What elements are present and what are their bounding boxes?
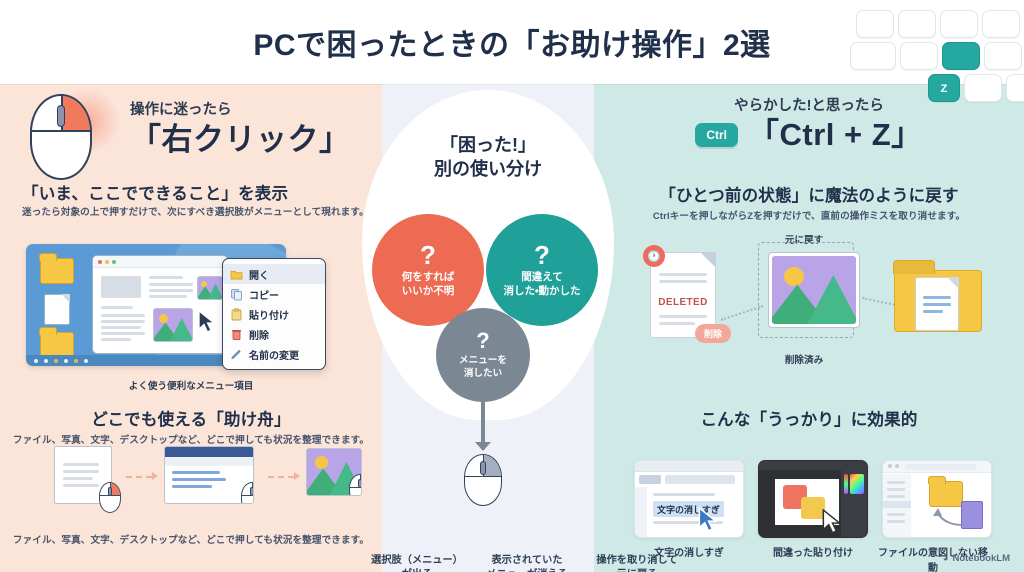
example-document	[54, 446, 112, 504]
right-bigword: 「Ctrl + Z」	[748, 118, 923, 151]
content-line	[101, 306, 133, 309]
content-line	[101, 314, 145, 317]
content-line	[101, 320, 145, 323]
destination-folder-icon	[894, 270, 982, 332]
paste-icon	[230, 308, 243, 321]
left-panel-right-click: 操作に迷ったら 「右クリック」 「いま、ここでできること」を表示 迷ったら対象の…	[0, 84, 382, 572]
context-menu-item-paste[interactable]: 貼り付け	[223, 304, 325, 324]
infographic-page: Z PCで困ったときの「お助け操作」2選 操作に迷ったら 「右クリック」 「いま…	[0, 0, 1024, 572]
usecase-cards: 文字の消しすぎ 文字の消しすぎ	[634, 460, 992, 564]
center-title: 「困った!」 別の使い分け	[382, 134, 594, 182]
thumbnail-image	[153, 308, 193, 342]
bubble-close-menu-line2: 消したい	[464, 368, 502, 381]
mouse-right-click-icon	[349, 474, 362, 496]
footer-caption-line2: 元に戻る	[572, 568, 702, 572]
restored-document	[915, 277, 959, 331]
mouse-left-click-icon	[464, 454, 502, 506]
deleted-caption: 削除済み	[734, 352, 874, 366]
mouse-wheel	[480, 461, 486, 475]
left-section2-head: どこでも使える「助け舟」	[0, 406, 382, 430]
key-blank	[964, 74, 1002, 102]
content-line	[101, 326, 141, 329]
context-menu-item-open[interactable]: 開く	[223, 264, 325, 284]
bubble-close-menu: ? メニューを 消したい	[436, 308, 530, 402]
card-file-move	[882, 460, 992, 538]
context-menu-item-label: 名前の変更	[249, 347, 299, 362]
bubble-mistake-line1: 間違えて	[521, 271, 562, 285]
content-line	[149, 295, 187, 298]
deleted-word: DELETED	[657, 297, 709, 308]
question-mark-icon: ?	[534, 242, 550, 268]
card-wrong-paste	[758, 460, 868, 538]
content-block	[101, 276, 141, 298]
card-caption: 間違った貼り付け	[754, 544, 872, 559]
center-title-line1: 「困った!」	[382, 134, 594, 158]
key-blank	[1006, 74, 1024, 102]
key-z-label: Z	[929, 75, 959, 103]
content-line	[149, 289, 193, 292]
clock-icon: 🕐	[643, 245, 665, 267]
context-menu-item-label: 貼り付け	[249, 307, 289, 322]
flow-dotline	[721, 305, 763, 320]
example-photo	[306, 448, 362, 496]
context-menu-item-label: 開く	[249, 267, 269, 282]
context-menu-item-label: コピー	[249, 287, 279, 302]
content-line	[149, 276, 183, 279]
watermark: ◕ NotebookLM	[943, 553, 1010, 564]
center-panel: 「困った!」 別の使い分け ? 何をすれば いいか不明 ? 間違えて 消した・動…	[382, 84, 594, 572]
window-close-dot	[98, 260, 102, 264]
watermark-label: NotebookLM	[952, 553, 1010, 564]
restored-image	[768, 252, 860, 328]
flow-connector	[481, 398, 485, 448]
left-kicker-wrap: 操作に迷ったら 「右クリック」	[130, 98, 351, 156]
mouse-right-click-icon	[99, 482, 121, 513]
bubble-mistake-line2: 消した・動かした	[503, 285, 580, 299]
pencil-icon	[230, 348, 243, 361]
mouse-right-click-icon	[30, 94, 92, 180]
desktop-doc-icon	[44, 294, 70, 325]
desktop-folder-icon	[40, 258, 74, 284]
ctrl-key-chip: Ctrl	[695, 123, 738, 147]
page-title: PCで困ったときの「お助け操作」2選	[0, 20, 1024, 64]
context-menu-item-copy[interactable]: コピー	[223, 284, 325, 304]
flow-arrow-icon	[475, 442, 491, 451]
folder-icon	[929, 481, 963, 507]
question-mark-icon: ?	[420, 242, 436, 268]
desktop-window	[92, 255, 228, 354]
context-menu-item-delete[interactable]: 削除	[223, 324, 325, 344]
bubble-unsure: ? 何をすれば いいか不明	[372, 214, 484, 326]
footer-caption-undo: 操作を取り消して 元に戻る	[572, 554, 702, 572]
undo-illustration: 🕐 DELETED 削除	[640, 234, 988, 352]
right-panel-ctrl-z: やらかした!と思ったら Ctrl 「Ctrl + Z」 「ひとつ前の状態」に魔法…	[594, 84, 1024, 572]
bubble-unsure-line1: 何をすれば	[402, 271, 455, 285]
key-z: Z	[928, 74, 960, 102]
bubble-unsure-line2: いいか不明	[402, 285, 455, 299]
deleted-badge: 削除	[695, 324, 731, 343]
center-title-line2: 別の使い分け	[382, 158, 594, 182]
folder-icon	[230, 268, 243, 281]
left-examples-row	[22, 442, 360, 504]
left-section2-footer: ファイル、写真、文字、デスクトップなど、どこで押しても状況を整理できます。	[0, 532, 382, 546]
window-maximize-dot	[112, 260, 116, 264]
deleted-document: 🕐 DELETED 削除	[650, 252, 716, 338]
copy-icon	[230, 288, 243, 301]
right-bigword-row: Ctrl 「Ctrl + Z」	[594, 118, 1024, 151]
card-text-overdelete: 文字の消しすぎ	[634, 460, 744, 538]
context-menu[interactable]: 開く コピー 貼り付け 削除	[222, 258, 326, 370]
left-bigword: 「右クリック」	[130, 123, 351, 156]
menu-caption: よく使う便利なメニュー項目	[0, 378, 382, 392]
mouse-right-button	[61, 96, 90, 132]
notebooklm-icon: ◕	[943, 553, 949, 564]
mouse-wheel	[57, 105, 65, 127]
trash-icon	[230, 328, 243, 341]
question-mark-icon: ?	[476, 330, 489, 352]
footer-caption-line1: 操作を取り消して	[572, 554, 702, 568]
bubble-mistake: ? 間違えて 消した・動かした	[486, 214, 598, 326]
example-browser	[164, 446, 254, 504]
bubble-close-menu-line1: メニューを	[459, 355, 507, 368]
left-section1-sub: 迷ったら対象の上で押すだけで、次にすべき選択肢がメニューとして現れます。	[22, 204, 369, 218]
right-section1-head: 「ひとつ前の状態」に魔法のように戻す	[594, 182, 1024, 206]
left-section1-head: 「いま、ここでできること」を表示	[22, 180, 288, 204]
context-menu-item-label: 削除	[249, 327, 269, 342]
move-arrow-icon	[931, 505, 965, 529]
window-minimize-dot	[105, 260, 109, 264]
content-line	[101, 338, 131, 341]
thumbnail-image	[197, 276, 223, 300]
right-section1-sub: Ctrlキーを押しながらZを押すだけで、直前の操作ミスを取り消せます。	[594, 208, 1024, 222]
context-menu-item-rename[interactable]: 名前の変更	[223, 344, 325, 364]
content-line	[101, 332, 145, 335]
left-kicker: 操作に迷ったら	[130, 98, 351, 119]
content-line	[149, 283, 193, 286]
mouse-right-click-icon	[241, 482, 254, 504]
right-section2-head: こんな「うっかり」に効果的	[594, 406, 1024, 430]
window-titlebar	[93, 256, 227, 268]
